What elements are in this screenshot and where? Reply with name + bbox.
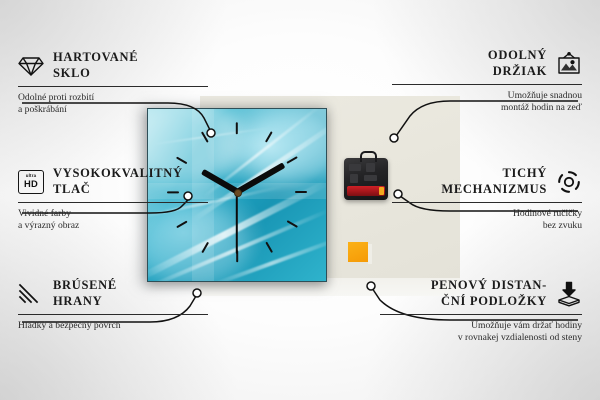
feature-foam-spacers: PENOVÝ DISTAN- ČNÍ PODLOŽKY Umožňuje vám… — [380, 278, 582, 345]
feature-title-line: ODOLNÝ — [488, 48, 547, 64]
feature-tempered-glass: HARTOVANÉ SKLO Odolné proti rozbití a po… — [18, 50, 208, 117]
feature-description: Hladký a bezpečný povrch — [18, 320, 208, 332]
feature-silent-mechanism: TICHÝ MECHANIZMUS Hodinové ručičky bez — [392, 166, 582, 233]
feature-title-line: BRÚSENÉ — [53, 278, 117, 294]
feature-description: Odolné proti rozbití a poškrábání — [18, 92, 208, 117]
feature-durable-holder: ODOLNÝ DRŽIAK Umožňuje snadnou montáž h — [392, 48, 582, 115]
diamond-icon — [18, 53, 44, 79]
feature-title-line: DRŽIAK — [488, 64, 547, 80]
feature-title-line: MECHANIZMUS — [441, 182, 547, 198]
feature-title-line: SKLO — [53, 66, 138, 82]
feature-description-line: v rovnakej vzdialenosti od steny — [380, 332, 582, 344]
feature-title-line: VYSOKOKVALITNÝ — [53, 166, 183, 182]
feature-title: HARTOVANÉ SKLO — [53, 50, 138, 81]
connector-node-glass — [207, 129, 215, 137]
gear-icon — [556, 169, 582, 195]
feature-ground-edges: BRÚSENÉ HRANY Hladký a bezpečný povrch — [18, 278, 208, 332]
feature-description-line: bez zvuku — [392, 220, 582, 232]
feature-header: ODOLNÝ DRŽIAK — [392, 48, 582, 79]
feature-header: ultra HD VYSOKOKVALITNÝ TLAČ — [18, 166, 208, 197]
feature-title: PENOVÝ DISTAN- ČNÍ PODLOŽKY — [431, 278, 547, 309]
feature-description-line: Hodinové ručičky — [392, 208, 582, 220]
feature-title: BRÚSENÉ HRANY — [53, 278, 117, 309]
feature-description: Hodinové ručičky bez zvuku — [392, 208, 582, 233]
picture-frame-hanger-icon — [556, 51, 582, 77]
feature-header: BRÚSENÉ HRANY — [18, 278, 208, 309]
feature-description-line: Umožňuje vám držať hodiny — [380, 320, 582, 332]
feature-title: VYSOKOKVALITNÝ TLAČ — [53, 166, 183, 197]
feature-divider — [18, 202, 208, 203]
feature-divider — [18, 86, 208, 87]
feature-description: Umožňuje vám držať hodiny v rovnakej vzd… — [380, 320, 582, 345]
badge-hd-text: HD — [24, 179, 38, 188]
feature-title-line: TLAČ — [53, 182, 183, 198]
feature-header: TICHÝ MECHANIZMUS — [392, 166, 582, 197]
feature-description-line: Hladký a bezpečný povrch — [18, 320, 208, 332]
feature-description-line: Umožňuje snadnou — [392, 90, 582, 102]
feature-title-line: ČNÍ PODLOŽKY — [431, 294, 547, 310]
feature-title-line: TICHÝ — [441, 166, 547, 182]
feature-header: HARTOVANÉ SKLO — [18, 50, 208, 81]
diagonal-lines-icon — [18, 281, 44, 307]
press-down-pads-icon — [556, 281, 582, 307]
ultra-hd-badge-icon: ultra HD — [18, 169, 44, 195]
feature-high-quality-print: ultra HD VYSOKOKVALITNÝ TLAČ Vividné far… — [18, 166, 208, 233]
feature-description: Vividné farby a výrazný obraz — [18, 208, 208, 233]
feature-title-line: PENOVÝ DISTAN- — [431, 278, 547, 294]
connector-node-holder — [390, 134, 398, 142]
feature-divider — [392, 202, 582, 203]
feature-description-line: Vividné farby — [18, 208, 208, 220]
feature-description-line: a poškrábání — [18, 104, 208, 116]
feature-title: TICHÝ MECHANIZMUS — [441, 166, 547, 197]
feature-title-line: HRANY — [53, 294, 117, 310]
feature-title-line: HARTOVANÉ — [53, 50, 138, 66]
feature-divider — [392, 84, 582, 85]
connector-node-pads — [367, 282, 375, 290]
feature-description-line: montáž hodin na zeď — [392, 102, 582, 114]
feature-divider — [380, 314, 582, 315]
feature-title: ODOLNÝ DRŽIAK — [488, 48, 547, 79]
feature-description-line: a výrazný obraz — [18, 220, 208, 232]
feature-description-line: Odolné proti rozbití — [18, 92, 208, 104]
infographic-canvas: HARTOVANÉ SKLO Odolné proti rozbití a po… — [0, 0, 600, 400]
feature-divider — [18, 314, 208, 315]
feature-description: Umožňuje snadnou montáž hodin na zeď — [392, 90, 582, 115]
feature-header: PENOVÝ DISTAN- ČNÍ PODLOŽKY — [380, 278, 582, 309]
